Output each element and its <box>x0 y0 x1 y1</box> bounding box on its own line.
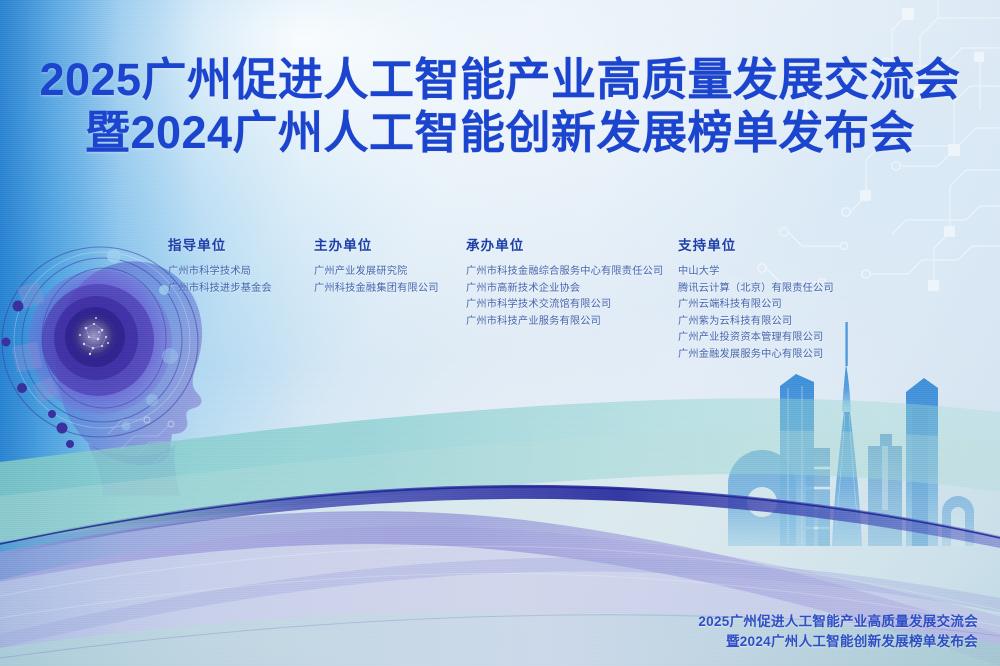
organization-item: 广州市科学技术交流馆有限公司 <box>466 297 678 314</box>
organization-item: 广州市科学技术局 <box>168 264 314 281</box>
organization-column-host: 主办单位 广州产业发展研究院 广州科技金融集团有限公司 <box>314 234 466 363</box>
bottom-watermark: 2025广州促进人工智能产业高质量发展交流会 暨2024广州人工智能创新发展榜单… <box>698 612 978 653</box>
organization-item: 广州市科技产业服务有限公司 <box>466 314 678 331</box>
organization-heading: 承办单位 <box>466 234 678 254</box>
organization-column-organizer: 承办单位 广州市科技金融综合服务中心有限责任公司 广州市高新技术企业协会 广州市… <box>466 234 678 363</box>
organization-column-support: 支持单位 中山大学 腾讯云计算（北京）有限责任公司 广州云端科技有限公司 广州紫… <box>678 234 868 363</box>
organization-item: 广州产业投资资本管理有限公司 <box>678 330 868 347</box>
watermark-line-2: 暨2024广州人工智能创新发展榜单发布会 <box>698 632 978 652</box>
organization-columns: 指导单位 广州市科学技术局 广州市科技进步基金会 主办单位 广州产业发展研究院 … <box>168 234 868 363</box>
event-title-line-2: 暨2024广州人工智能创新发展榜单发布会 <box>0 109 1000 157</box>
organization-item: 广州云端科技有限公司 <box>678 297 868 314</box>
organization-item: 广州科技金融集团有限公司 <box>314 281 466 298</box>
organization-item: 中山大学 <box>678 264 868 281</box>
organization-item: 广州市科技金融综合服务中心有限责任公司 <box>466 264 678 281</box>
watermark-line-1: 2025广州促进人工智能产业高质量发展交流会 <box>698 612 978 632</box>
organization-column-guidance: 指导单位 广州市科学技术局 广州市科技进步基金会 <box>168 234 314 363</box>
organization-heading: 支持单位 <box>678 234 868 254</box>
event-title: 2025广州促进人工智能产业高质量发展交流会 暨2024广州人工智能创新发展榜单… <box>0 56 1000 157</box>
organization-item: 广州市科技进步基金会 <box>168 281 314 298</box>
organization-item: 广州金融发展服务中心有限公司 <box>678 347 868 364</box>
event-banner: 2025广州促进人工智能产业高质量发展交流会 暨2024广州人工智能创新发展榜单… <box>0 0 1000 666</box>
organization-heading: 主办单位 <box>314 234 466 254</box>
organization-item: 广州产业发展研究院 <box>314 264 466 281</box>
organization-item: 腾讯云计算（北京）有限责任公司 <box>678 281 868 298</box>
event-title-line-1: 2025广州促进人工智能产业高质量发展交流会 <box>0 56 1000 104</box>
organization-item: 广州市高新技术企业协会 <box>466 281 678 298</box>
organization-item: 广州紫为云科技有限公司 <box>678 314 868 331</box>
organization-heading: 指导单位 <box>168 234 314 254</box>
